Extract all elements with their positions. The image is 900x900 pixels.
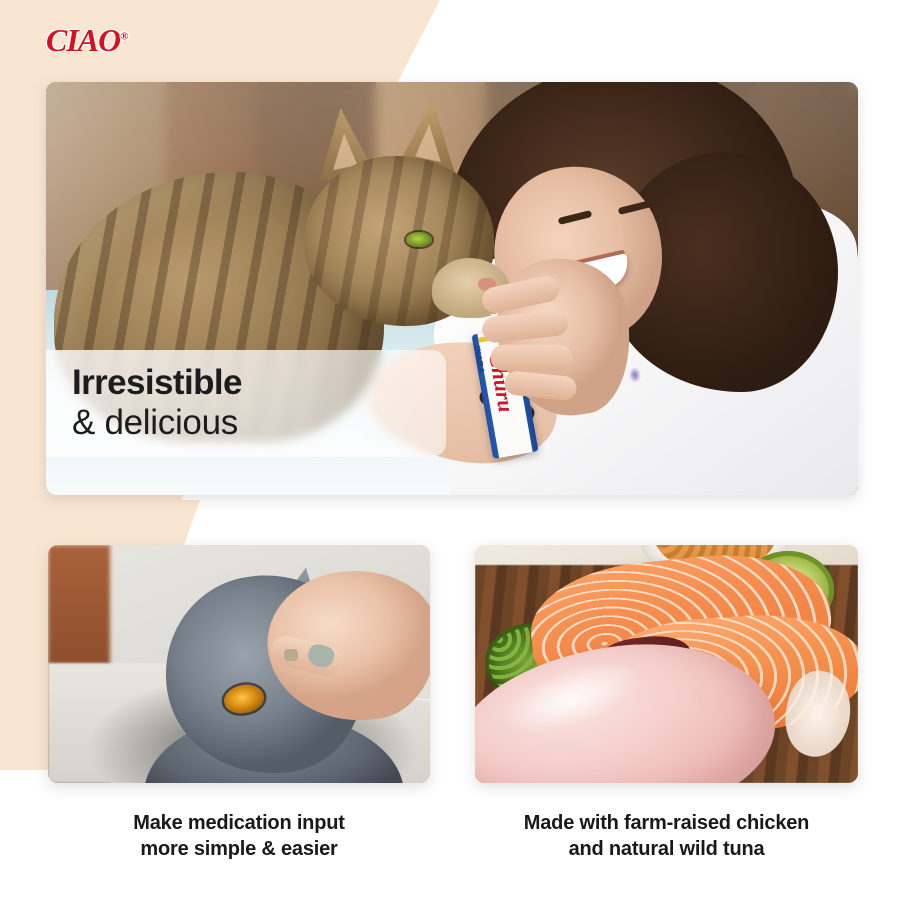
grey-cat-photo <box>48 545 430 783</box>
caption-line-2: and natural wild tuna <box>475 836 858 862</box>
feature-caption-ingredients: Made with farm-raised chicken and natura… <box>475 810 858 862</box>
brand-logo: CIAO® <box>46 24 128 56</box>
hero-headline-light: & delicious <box>72 403 446 442</box>
feature-card-ingredients <box>475 545 858 783</box>
feature-card-medication <box>48 545 430 783</box>
caption-line-1: Make medication input <box>48 810 430 836</box>
ingredients-photo <box>475 545 858 783</box>
hero-caption-panel: Irresistible & delicious <box>46 350 446 457</box>
hero-image-card: INABA Churu Irresistible & delicious <box>46 82 858 495</box>
caption-line-1: Made with farm-raised chicken <box>475 810 858 836</box>
tabby-cat-eye <box>406 232 432 247</box>
feature-caption-medication: Make medication input more simple & easi… <box>48 810 430 862</box>
caption-line-2: more simple & easier <box>48 836 430 862</box>
product-infographic-page: CIAO® <box>0 0 900 900</box>
registered-trademark-icon: ® <box>120 30 128 42</box>
medication-pill <box>284 649 298 661</box>
hero-headline-bold: Irresistible <box>72 365 446 401</box>
brand-logo-text: CIAO <box>46 22 120 58</box>
